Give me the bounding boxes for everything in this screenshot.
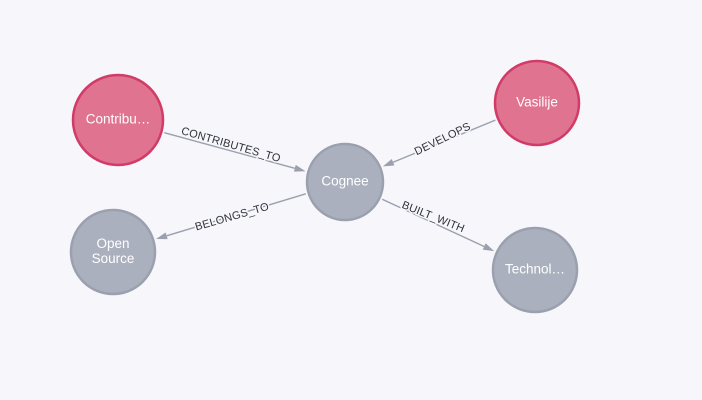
nodes-layer: Contribu…VasilijeCogneeOpenSourceTechnol…: [71, 61, 579, 312]
graph-node-open-source[interactable]: OpenSource: [71, 210, 155, 294]
node-circle[interactable]: [493, 228, 577, 312]
node-circle[interactable]: [307, 144, 383, 220]
node-circle[interactable]: [73, 75, 163, 165]
edge-arrowhead-icon: [383, 159, 395, 166]
edge-label-contributes-to: CONTRIBUTES_TO: [180, 125, 282, 165]
graph-visualization[interactable]: Contribu…VasilijeCogneeOpenSourceTechnol…: [0, 0, 702, 400]
edge-label-belongs-to: BELONGS_TO: [194, 201, 271, 234]
graph-node-contributor[interactable]: Contribu…: [73, 75, 163, 165]
edge-arrowhead-icon: [483, 243, 494, 251]
node-circle[interactable]: [495, 61, 579, 145]
edge-arrowhead-icon: [156, 232, 168, 239]
graph-canvas[interactable]: Contribu…VasilijeCogneeOpenSourceTechnol…: [0, 0, 702, 400]
edge-label-built-with: BUILT_WITH: [400, 199, 466, 235]
graph-node-technology[interactable]: Technol…: [493, 228, 577, 312]
graph-node-vasilije[interactable]: Vasilije: [495, 61, 579, 145]
node-circle[interactable]: [71, 210, 155, 294]
edge-label-develops: DEVELOPS: [413, 121, 473, 158]
graph-node-cognee[interactable]: Cognee: [307, 144, 383, 220]
edge-arrowhead-icon: [294, 165, 306, 172]
